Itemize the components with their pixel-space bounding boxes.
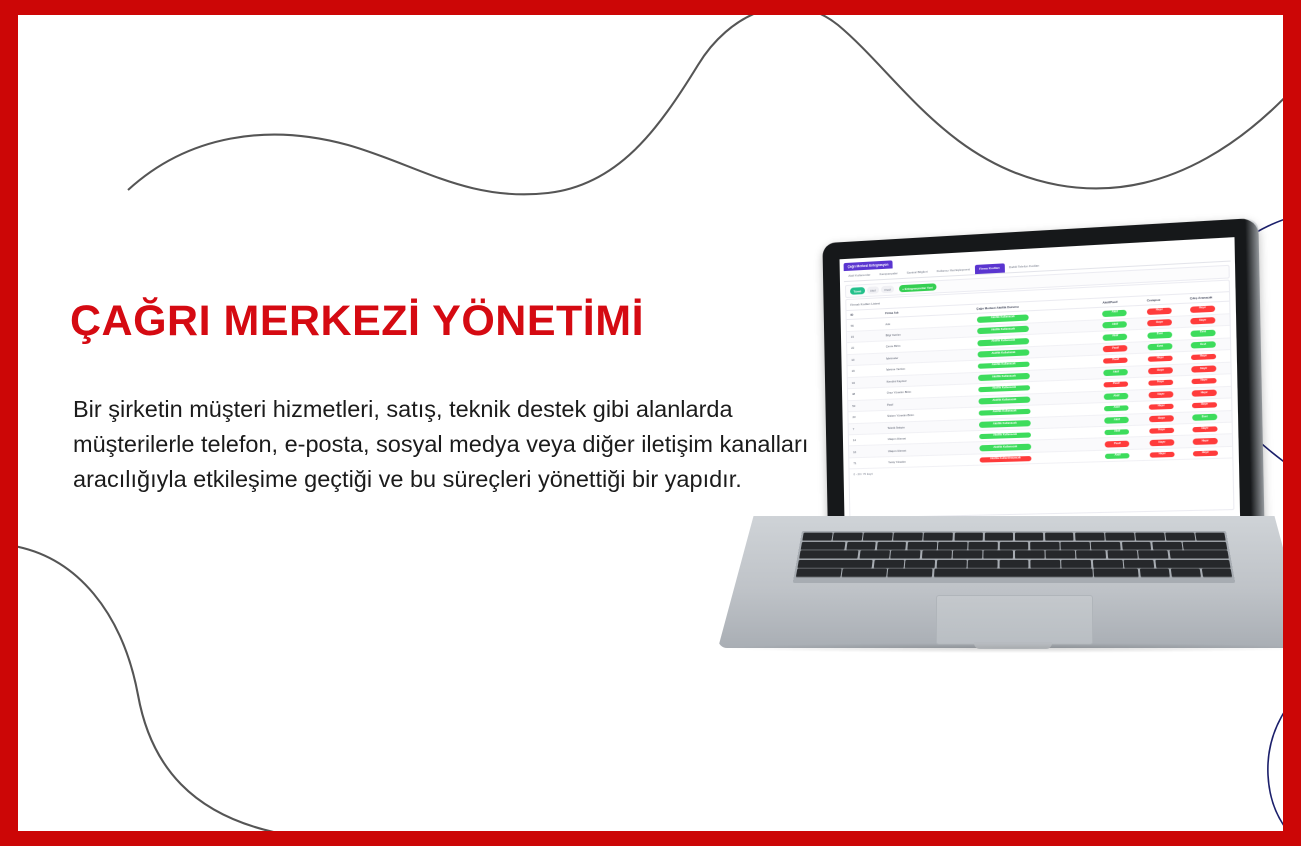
key-row xyxy=(798,560,1231,568)
key xyxy=(1061,542,1090,550)
key xyxy=(1030,560,1060,568)
status-badge: Evet xyxy=(1148,343,1173,350)
key xyxy=(1105,533,1134,541)
tab-dahili-telefon-kodlari[interactable]: Dahili Telefon Kodları xyxy=(1004,261,1044,272)
status-badge: Pasif xyxy=(1104,357,1128,364)
status-badge: Hayır xyxy=(1148,355,1173,362)
cell-id: 71 xyxy=(849,457,884,470)
tab-aktif-kullanicilar[interactable]: Aktif Kullanıcılar xyxy=(844,270,875,280)
status-badge: Hayır xyxy=(1193,438,1218,445)
status-badge: Hayır xyxy=(1150,451,1175,458)
status-badge: Aktiflik Kullanacak xyxy=(979,444,1032,451)
key xyxy=(798,560,873,568)
status-badge: Hayır xyxy=(1192,402,1217,409)
key xyxy=(801,542,846,550)
status-badge: Hayır xyxy=(1192,426,1217,433)
key xyxy=(877,542,907,550)
key xyxy=(968,560,998,568)
status-badge: Aktiflik Kullanacak xyxy=(979,420,1032,427)
page-title: ÇAĞRI MERKEZİ YÖNETİMİ xyxy=(70,297,644,346)
key xyxy=(1135,533,1165,541)
key xyxy=(796,569,841,577)
key xyxy=(1045,533,1074,541)
status-badge: Aktiflik Kullanacak xyxy=(978,373,1031,381)
key xyxy=(891,551,921,559)
status-badge: Aktif xyxy=(1103,322,1127,329)
key xyxy=(1138,551,1168,559)
status-badge: Evet xyxy=(1148,332,1173,339)
status-badge: Aktiflik Kullanacak xyxy=(977,361,1030,369)
key xyxy=(999,542,1028,550)
slide-canvas: ÇAĞRI MERKEZİ YÖNETİMİ Bir şirketin müşt… xyxy=(18,15,1283,831)
status-badge: Aktif xyxy=(1103,310,1127,317)
status-badge: Aktiflik Kullanacak xyxy=(978,385,1031,393)
cell-cikis-aranacak: Hayır xyxy=(1189,446,1233,459)
key xyxy=(893,533,922,541)
cell-aktif-pasif: Aktif xyxy=(1101,449,1146,462)
laptop-shadow xyxy=(724,643,1283,653)
key xyxy=(1155,560,1230,568)
status-badge: Aktif xyxy=(1105,429,1129,436)
key xyxy=(1030,542,1059,550)
status-badge: Pasif xyxy=(1103,345,1127,352)
key xyxy=(1062,560,1092,568)
status-badge: Aktif xyxy=(1105,417,1129,424)
key xyxy=(1015,551,1044,559)
status-badge: Aktif xyxy=(1105,453,1129,460)
key xyxy=(1152,542,1182,550)
key-row xyxy=(801,542,1227,550)
status-badge: Aktiflik Kullanacak xyxy=(979,432,1032,439)
key xyxy=(863,533,893,541)
status-badge: Aktiflik Kullanacak xyxy=(977,338,1030,346)
add-integration-button[interactable]: + Entegrasyonlar Yeni xyxy=(899,283,937,293)
key xyxy=(1076,551,1106,559)
status-badge: Evet xyxy=(1191,342,1216,349)
status-badge: Aktif xyxy=(1104,393,1128,400)
key xyxy=(1166,533,1196,541)
top-wave-line xyxy=(128,15,1283,194)
laptop-trackpad xyxy=(936,595,1093,645)
status-badge: Hayır xyxy=(1191,366,1216,373)
key xyxy=(1046,551,1076,559)
cell-cevapsiz: Hayır xyxy=(1146,448,1189,461)
key-row xyxy=(796,569,1232,577)
laptop-keyboard xyxy=(793,531,1236,583)
key xyxy=(907,542,937,550)
laptop-screen: Çağrı Merkezi Entegrasyon Aktif Kullanıc… xyxy=(840,237,1241,525)
key xyxy=(969,542,998,550)
status-badge: Aktif xyxy=(1103,334,1127,341)
key xyxy=(936,560,966,568)
status-badge: Hayır xyxy=(1148,379,1173,386)
key xyxy=(1124,560,1154,568)
key xyxy=(833,533,863,541)
key xyxy=(1075,533,1104,541)
key xyxy=(922,551,952,559)
crm-application: Çağrı Merkezi Entegrasyon Aktif Kullanıc… xyxy=(840,237,1241,525)
key xyxy=(1170,569,1201,577)
status-badge: Hayır xyxy=(1192,378,1217,385)
page-description: Bir şirketin müşteri hizmetleri, satış, … xyxy=(73,392,813,497)
key xyxy=(846,542,876,550)
bottom-left-curve xyxy=(18,545,488,831)
key xyxy=(888,569,933,577)
key xyxy=(874,560,904,568)
status-badge: Evet xyxy=(1191,330,1216,337)
space-key xyxy=(934,569,1093,577)
key xyxy=(842,569,887,577)
status-badge: Aktiflik Kullanacak xyxy=(978,397,1031,405)
status-badge: Hayır xyxy=(1149,415,1174,422)
key xyxy=(938,542,967,550)
key xyxy=(1094,569,1139,577)
key xyxy=(953,551,983,559)
filter-aktif[interactable]: Aktif xyxy=(867,286,880,294)
firma-kodlari-panel: Firmalı Kodları Listesi ID Firma Adı Çağ… xyxy=(845,280,1234,519)
key xyxy=(999,560,1029,568)
status-badge: Hayır xyxy=(1193,450,1218,457)
key xyxy=(860,551,890,559)
key xyxy=(1140,569,1170,577)
key xyxy=(1091,542,1121,550)
tab-kampanyalar[interactable]: Kampanyalar xyxy=(875,269,902,279)
status-badge: Hayır xyxy=(1191,354,1216,361)
key xyxy=(802,533,832,541)
status-badge: Aktif xyxy=(1104,369,1128,376)
status-badge: Hayır xyxy=(1150,439,1175,446)
key xyxy=(1122,542,1152,550)
filter-pasif[interactable]: Pasif xyxy=(881,285,894,294)
status-badge: Hayır xyxy=(1147,320,1172,327)
key-row xyxy=(799,551,1229,559)
status-badge: Aktiflik Kullanacak xyxy=(977,326,1030,334)
key xyxy=(1169,551,1229,559)
status-badge: Evet xyxy=(1192,414,1217,421)
filter-tumu[interactable]: Tümü xyxy=(850,287,865,296)
key xyxy=(1183,542,1228,550)
key-row xyxy=(802,533,1225,541)
status-badge: Aktiflik Kullanacak xyxy=(978,408,1031,416)
key xyxy=(799,551,859,559)
laptop-mockup: Çağrı Merkezi Entegrasyon Aktif Kullanıc… xyxy=(718,243,1283,668)
laptop-lid: Çağrı Merkezi Entegrasyon Aktif Kullanıc… xyxy=(822,218,1264,538)
tab-kullanici-hat-eslesmesi[interactable]: Kullanıcı Hat Eşleşmesi xyxy=(932,265,975,276)
status-badge: Hayır xyxy=(1149,427,1174,434)
status-badge: Aktif xyxy=(1104,405,1128,412)
key xyxy=(984,551,1013,559)
status-badge: Hayır xyxy=(1148,367,1173,374)
status-badge: Hayır xyxy=(1190,318,1215,325)
key xyxy=(1093,560,1123,568)
status-badge: Hayır xyxy=(1190,305,1215,312)
status-badge: Hayır xyxy=(1149,391,1174,398)
status-badge: Aktiflik Kullanacak xyxy=(977,314,1030,322)
key xyxy=(1107,551,1137,559)
status-badge: Pasif xyxy=(1104,381,1128,388)
tab-firma-kodlari[interactable]: Firma Kodları xyxy=(974,263,1004,274)
key xyxy=(905,560,935,568)
status-badge: Hayır xyxy=(1147,308,1172,315)
status-badge: Hayır xyxy=(1149,403,1174,410)
navy-curve-bottom xyxy=(1268,680,1283,831)
status-badge: Aktiflik Kullanılmayacak xyxy=(979,456,1032,463)
firma-kodlari-table: ID Firma Adı Çağrı Merkezi Aktiflik Duru… xyxy=(846,291,1232,470)
table-body: 56AnkAktiflik KullanacakAktifHayırHayır1… xyxy=(847,301,1233,469)
status-badge: Hayır xyxy=(1192,390,1217,397)
key xyxy=(984,533,1013,541)
key xyxy=(954,533,983,541)
status-badge: Pasif xyxy=(1105,441,1129,448)
key xyxy=(1201,569,1232,577)
tab-santral-bilgileri[interactable]: Santral Bilgileri xyxy=(902,267,932,277)
key xyxy=(1015,533,1044,541)
key xyxy=(924,533,953,541)
status-badge: Aktiflik Kullanacak xyxy=(977,350,1030,358)
key xyxy=(1196,533,1226,541)
